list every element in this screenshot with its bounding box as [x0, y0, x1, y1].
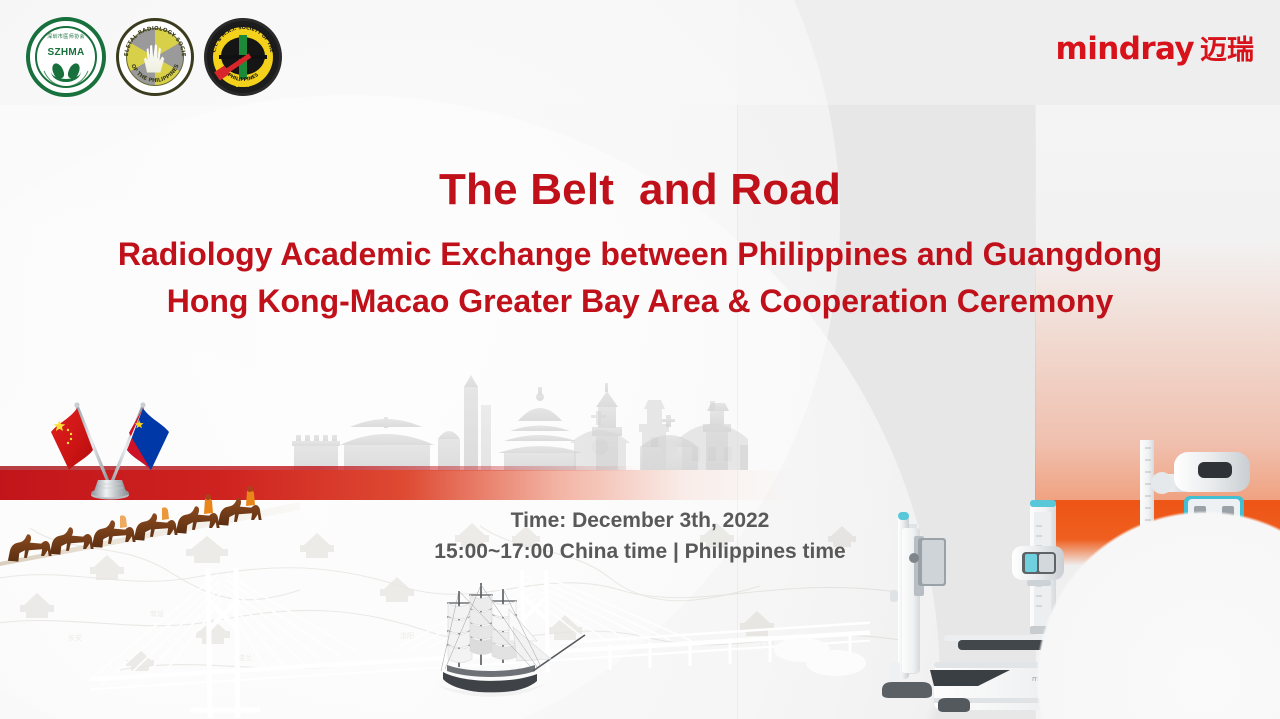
- poster-canvas: 长安敦煌楼兰 洛阳泉州广州: [0, 0, 1280, 719]
- event-date: Time: December 3th, 2022: [0, 509, 1280, 533]
- subtitle-line-2: Hong Kong-Macao Greater Bay Area & Coope…: [0, 283, 1280, 320]
- svg-text:OF THE PHILIPPINES: OF THE PHILIPPINES: [129, 63, 180, 84]
- ctmri-year: 1989: [207, 83, 279, 89]
- mindray-brand-logo: mindray 迈瑞: [1056, 28, 1254, 67]
- svg-text:C.T. & M.R.I. SOCIETY OF THE: C.T. & M.R.I. SOCIETY OF THE: [211, 25, 274, 53]
- page-title: The Belt and Road: [0, 165, 1280, 215]
- svg-text:PHILIPPINES: PHILIPPINES: [226, 72, 260, 83]
- svg-text:SKELETAL RADIOLOGY SOCIETY: SKELETAL RADIOLOGY SOCIETY: [119, 21, 186, 57]
- srsp-bottom-text: OF THE PHILIPPINES: [129, 63, 180, 84]
- szhma-logo: 深圳市医师协会 SZHMA: [26, 17, 106, 97]
- svg-text:长安: 长安: [68, 633, 82, 642]
- crossed-flags-china-philippines: [35, 388, 185, 503]
- tall-sailing-ship: [425, 575, 600, 715]
- ctmri-bottom-text: PHILIPPINES: [226, 72, 260, 83]
- city-skyline-silhouette-right: [570, 385, 755, 470]
- partner-logos: 深圳市医师协会 SZHMA SKELETAL RADIOLOGY SOCIETY: [26, 17, 282, 97]
- event-time-zones: 15:00~17:00 China time | Philippines tim…: [0, 540, 1280, 564]
- mindray-chinese-wordmark: 迈瑞: [1200, 28, 1254, 67]
- srsp-top-text: SKELETAL RADIOLOGY SOCIETY: [119, 21, 186, 57]
- mindray-wordmark: mindray: [1056, 31, 1194, 67]
- szhma-laurel-ring: [30, 21, 102, 93]
- subtitle-line-1: Radiology Academic Exchange between Phil…: [0, 236, 1280, 273]
- ct-mri-society-logo: C.T. & M.R.I. SOCIETY OF THE PHILIPPINES…: [204, 18, 282, 96]
- srsp-ring-text: SKELETAL RADIOLOGY SOCIETY OF THE PHILIP…: [119, 21, 191, 93]
- ctmri-top-text: C.T. & M.R.I. SOCIETY OF THE: [211, 25, 274, 53]
- skeletal-radiology-society-logo: SKELETAL RADIOLOGY SOCIETY OF THE PHILIP…: [116, 18, 194, 96]
